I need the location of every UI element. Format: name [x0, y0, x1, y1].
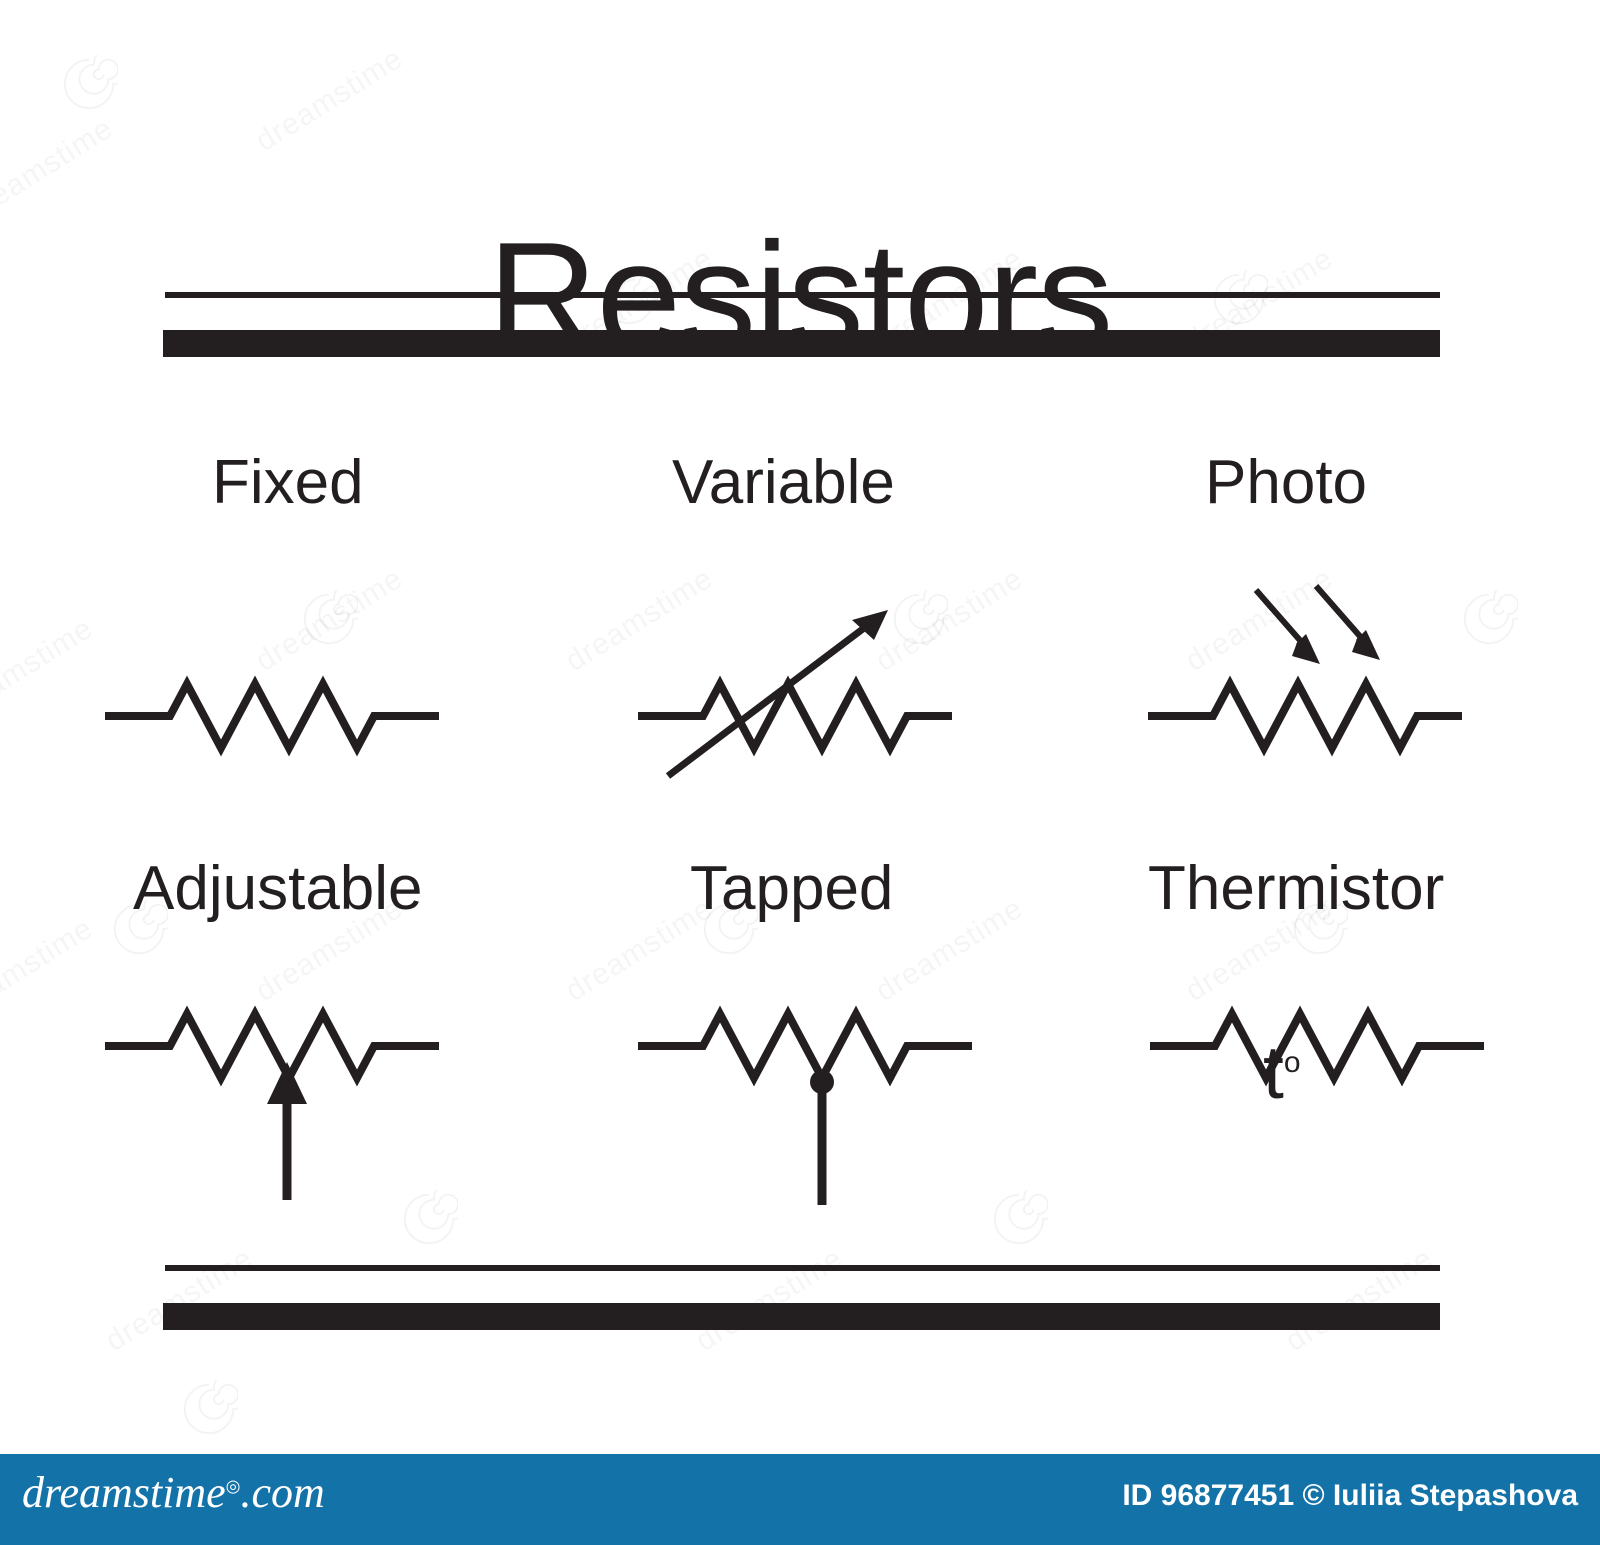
symbol-label-adjustable: Adjustable	[133, 858, 423, 920]
poster-content: Resistors Fixed Variable Photo	[0, 0, 1600, 1545]
thermistor-annotation: to	[1263, 1035, 1301, 1110]
light-arrow-1-icon	[1256, 590, 1320, 664]
variable-resistor-symbol	[630, 590, 960, 790]
image-credit: ID 96877451 © Iuliia Stepashova	[1122, 1481, 1578, 1511]
thermistor-resistor-symbol	[1140, 1000, 1490, 1140]
symbol-label-tapped: Tapped	[690, 858, 893, 920]
adjustable-resistor-symbol	[95, 1000, 445, 1210]
junction-dot-icon	[810, 1070, 834, 1094]
spiral-icon: ◎	[226, 1476, 241, 1495]
divider-bottom-thick	[163, 1303, 1440, 1330]
tapped-resistor-symbol	[628, 1000, 978, 1210]
poster-canvas: dreamstime dreamstime dreamstime dreamst…	[0, 0, 1600, 1545]
divider-top-thin	[165, 292, 1440, 298]
photo-resistor-symbol	[1140, 570, 1470, 770]
wiper-arrow-icon	[267, 1062, 307, 1200]
symbol-label-photo: Photo	[1205, 452, 1367, 514]
symbol-label-variable: Variable	[672, 452, 895, 514]
light-arrow-2-icon	[1316, 586, 1380, 660]
fixed-resistor-symbol	[95, 660, 445, 770]
thermistor-annotation-letter: t	[1263, 1030, 1284, 1114]
symbol-label-thermistor: Thermistor	[1148, 858, 1444, 920]
divider-bottom-thin	[165, 1265, 1440, 1271]
tap-lead-icon	[810, 1070, 834, 1205]
thermistor-annotation-degree: o	[1284, 1046, 1301, 1079]
footer-bar: dreamstime◎.com ID 96877451 © Iuliia Ste…	[0, 1454, 1600, 1545]
logo-wordmark: dreamstime	[22, 1468, 226, 1517]
dreamstime-logo[interactable]: dreamstime◎.com	[22, 1471, 325, 1515]
logo-domain-suffix: .com	[241, 1468, 325, 1517]
symbol-label-fixed: Fixed	[212, 452, 364, 514]
divider-top-thick	[163, 330, 1440, 357]
